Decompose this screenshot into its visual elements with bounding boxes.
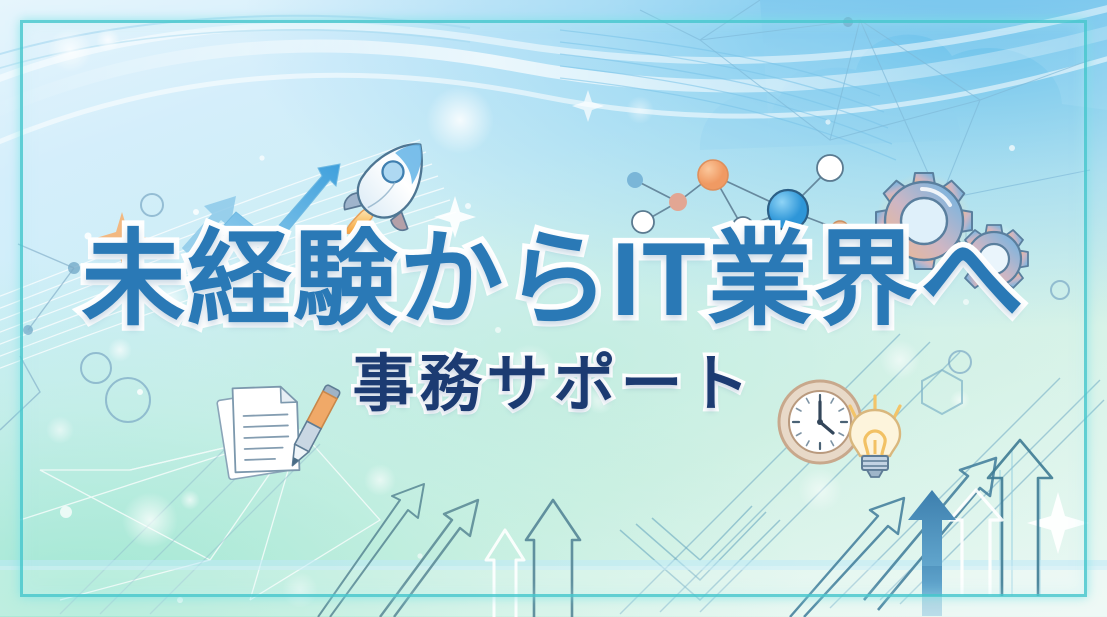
banner-canvas: 未経験からIT業界へ 事務サポート	[0, 0, 1107, 617]
network-node-outline-3	[817, 155, 843, 181]
vertical-lines	[1000, 450, 1040, 596]
headline-block: 未経験からIT業界へ 事務サポート	[0, 228, 1107, 416]
wave-lines	[0, 8, 1107, 150]
network-node-salmon	[669, 193, 687, 211]
reflection-band	[0, 560, 1107, 570]
page-subtitle: 事務サポート	[0, 354, 1107, 416]
cloud-shape	[700, 0, 1107, 150]
arrow-up-outline-white	[486, 530, 524, 617]
arrow-up-solid	[908, 490, 956, 616]
network-node-blue-small	[627, 172, 643, 188]
chevron-lines	[620, 506, 780, 600]
network-node-orange	[698, 160, 728, 190]
arrow-up-outline-large	[526, 500, 580, 617]
page-title: 未経験からIT業界へ	[0, 228, 1107, 332]
